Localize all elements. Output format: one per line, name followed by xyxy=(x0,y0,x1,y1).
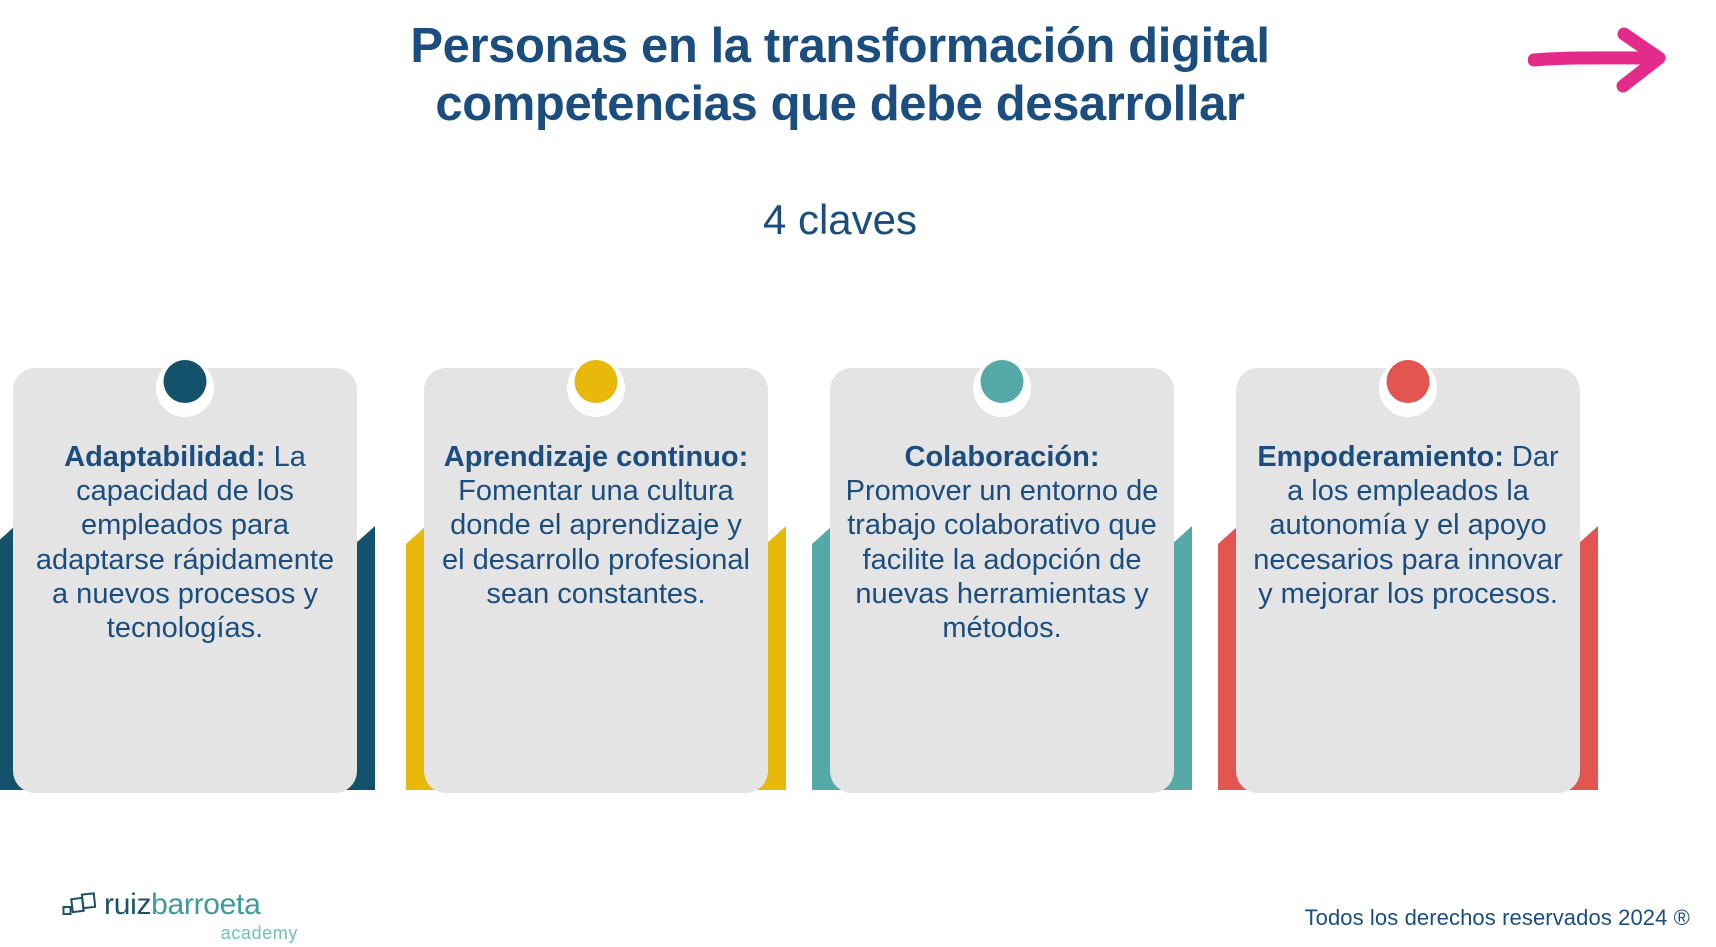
page-subtitle: 4 claves xyxy=(250,196,1430,244)
copyright-text: Todos los derechos reservados 2024 ® xyxy=(1305,905,1690,931)
card-desc-2: Fomentar una cultura donde el aprendizaj… xyxy=(442,475,750,610)
page-title-line-2: competencias que debe desarrollar xyxy=(250,76,1430,134)
card-dot-4 xyxy=(1387,360,1430,403)
brand-logo-wordmark: ruizbarroeta xyxy=(104,890,260,920)
brand-logo-word-1: ruiz xyxy=(104,888,151,921)
brand-logo-tagline: academy xyxy=(62,923,302,944)
card-lead-4: Empoderamiento: xyxy=(1257,441,1504,473)
card-notch-1 xyxy=(156,359,214,417)
card-body-4: Empoderamiento: Dar a los empleados la a… xyxy=(1236,368,1580,793)
arrow-right-icon xyxy=(1528,24,1678,94)
cards-row: Adaptabilidad: La capacidad de los emple… xyxy=(0,348,1716,808)
card-body-1: Adaptabilidad: La capacidad de los emple… xyxy=(13,368,357,793)
card-colaboracion[interactable]: Colaboración: Promover un entorno de tra… xyxy=(812,348,1192,800)
card-body-2: Aprendizaje continuo: Fomentar una cultu… xyxy=(424,368,768,793)
card-empoderamiento[interactable]: Empoderamiento: Dar a los empleados la a… xyxy=(1218,348,1598,800)
card-desc-3: Promover un entorno de trabajo colaborat… xyxy=(846,475,1159,644)
slide-canvas: Personas en la transformación digital co… xyxy=(0,0,1716,947)
brand-logo-word-2: barroeta xyxy=(151,888,260,921)
card-text-3: Colaboración: Promover un entorno de tra… xyxy=(844,440,1160,645)
card-text-2: Aprendizaje continuo: Fomentar una cultu… xyxy=(438,440,754,611)
brand-logo-row: ruizbarroeta xyxy=(62,888,302,922)
card-dot-1 xyxy=(164,360,207,403)
card-dot-2 xyxy=(575,360,618,403)
brand-logo[interactable]: ruizbarroeta academy xyxy=(62,888,302,944)
squares-logo-icon xyxy=(62,892,96,918)
card-body-3: Colaboración: Promover un entorno de tra… xyxy=(830,368,1174,793)
card-aprendizaje-continuo[interactable]: Aprendizaje continuo: Fomentar una cultu… xyxy=(406,348,786,800)
card-notch-4 xyxy=(1379,359,1437,417)
card-notch-3 xyxy=(973,359,1031,417)
card-dot-3 xyxy=(981,360,1024,403)
card-text-1: Adaptabilidad: La capacidad de los emple… xyxy=(27,440,343,645)
card-notch-2 xyxy=(567,359,625,417)
card-lead-2: Aprendizaje continuo: xyxy=(444,441,749,473)
card-adaptabilidad[interactable]: Adaptabilidad: La capacidad de los emple… xyxy=(0,348,375,800)
card-lead-1: Adaptabilidad: xyxy=(64,441,265,473)
page-title: Personas en la transformación digital co… xyxy=(250,18,1430,134)
card-lead-3: Colaboración: xyxy=(905,441,1100,473)
page-title-line-1: Personas en la transformación digital xyxy=(250,18,1430,76)
card-text-4: Empoderamiento: Dar a los empleados la a… xyxy=(1250,440,1566,611)
